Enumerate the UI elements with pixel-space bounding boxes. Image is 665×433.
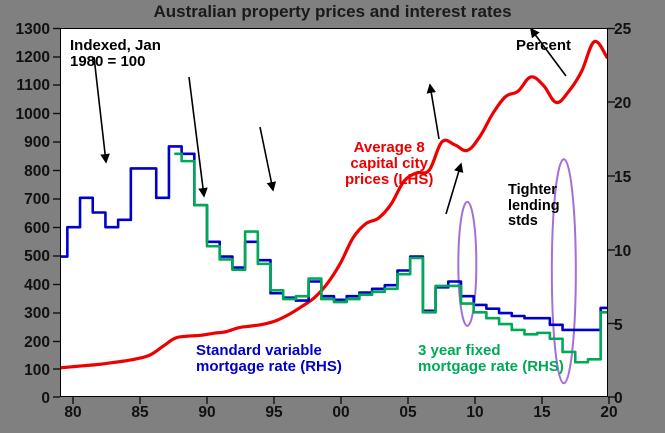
x-axis-tick-80: 80: [53, 404, 93, 422]
annotation-arrow: [260, 127, 273, 190]
x-axis-tick-85: 85: [120, 404, 160, 422]
annotation-blue-series: Standard variable mortgage rate (RHS): [196, 343, 342, 375]
annotation-arrow: [430, 85, 439, 139]
right-axis-tick-5: 5: [614, 317, 660, 335]
annotation-arrow: [189, 77, 204, 196]
right-axis-tick-25: 25: [614, 21, 660, 39]
annotation-green-line1: 3 year fixed: [418, 342, 501, 359]
left-axis-tick-600: 600: [4, 220, 50, 238]
right-axis-tick-20: 20: [614, 95, 660, 113]
x-axis-tick-15: 15: [522, 404, 562, 422]
annotation-arrow: [446, 164, 461, 214]
chart-title: Australian property prices and interest …: [0, 2, 665, 22]
x-axis-tick-95: 95: [254, 404, 294, 422]
annotation-arrow: [94, 57, 106, 162]
annotation-red-line1: Average 8: [354, 139, 425, 156]
annotation-red-series: Average 8 capital city prices (LHS): [345, 140, 433, 189]
left-axis-tick-1200: 1200: [4, 49, 50, 67]
annotation-blue-line2: mortgage rate (RHS): [196, 358, 342, 375]
x-axis-tick-00: 00: [321, 404, 361, 422]
left-axis-tick-1100: 1100: [4, 77, 50, 95]
left-axis-tick-700: 700: [4, 191, 50, 209]
annotation-percent: Percent: [516, 38, 571, 54]
left-axis-tick-300: 300: [4, 305, 50, 323]
right-axis-tick-10: 10: [614, 243, 660, 261]
annotation-black-line2: lending: [508, 198, 560, 214]
left-axis-tick-100: 100: [4, 362, 50, 380]
annotation-indexed: Indexed, Jan 1980 = 100: [70, 38, 161, 70]
left-axis-tick-800: 800: [4, 163, 50, 181]
annotation-green-line2: mortgage rate (RHS): [418, 358, 564, 375]
left-axis-tick-400: 400: [4, 277, 50, 295]
annotation-black-line1: Tighter: [508, 182, 557, 198]
annotation-blue-line1: Standard variable: [196, 342, 322, 359]
x-axis-tick-20: 20: [589, 404, 629, 422]
annotation-indexed-line1: Indexed, Jan: [70, 37, 161, 54]
annotation-black-line3: stds: [508, 213, 538, 229]
annotation-tighter-lending: Tighter lending stds: [508, 183, 560, 230]
annotation-percent-label: Percent: [516, 37, 571, 54]
annotation-green-series: 3 year fixed mortgage rate (RHS): [418, 343, 564, 375]
left-axis-tick-1000: 1000: [4, 106, 50, 124]
x-axis-tick-90: 90: [187, 404, 227, 422]
x-axis-tick-05: 05: [388, 404, 428, 422]
chart-container: Australian property prices and interest …: [0, 0, 665, 433]
left-axis-tick-900: 900: [4, 134, 50, 152]
left-axis-tick-1300: 1300: [4, 21, 50, 39]
left-axis-tick-0: 0: [4, 390, 50, 408]
annotation-indexed-line2: 1980 = 100: [70, 53, 146, 70]
x-axis-tick-10: 10: [455, 404, 495, 422]
annotation-red-line3: prices (LHS): [345, 171, 433, 188]
annotation-red-line2: capital city: [350, 155, 428, 172]
right-axis-tick-15: 15: [614, 169, 660, 187]
left-axis-tick-200: 200: [4, 334, 50, 352]
left-axis-tick-500: 500: [4, 248, 50, 266]
